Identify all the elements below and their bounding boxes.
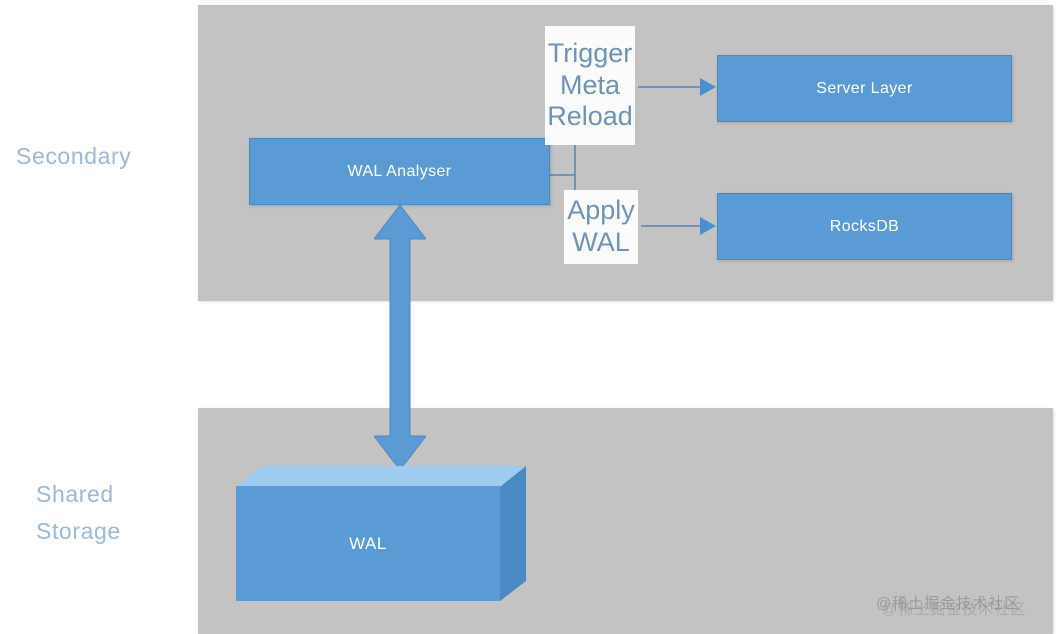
diagram-canvas: Secondary Shared Storage WAL Analyser Se… (0, 0, 1062, 634)
watermark-text-back: @稀土掘金技术社区 (882, 598, 1026, 619)
edge-line-to-rocksdb (641, 225, 701, 227)
node-wal-store[interactable]: WAL (236, 466, 526, 601)
edge-label-apply-wal: Apply WAL (564, 190, 638, 264)
watermark: @稀土掘金技术社区 @稀土掘金技术社区 (876, 592, 1020, 613)
node-wal-store-label: WAL (349, 534, 387, 554)
edge-label-trigger-meta-reload: Trigger Meta Reload (545, 26, 635, 145)
node-wal-analyser[interactable]: WAL Analyser (249, 138, 550, 205)
node-rocksdb-label: RocksDB (830, 218, 899, 236)
node-wal-analyser-label: WAL Analyser (347, 163, 451, 181)
double-arrow-analyser-to-wal (374, 205, 426, 470)
node-server-layer[interactable]: Server Layer (717, 55, 1012, 122)
zone-label-secondary: Secondary (16, 138, 191, 175)
edge-line-to-server-layer (638, 86, 701, 88)
arrow-head-to-rocksdb (700, 217, 716, 235)
zone-label-shared-storage: Shared Storage (36, 476, 201, 551)
wal-store-side-face (500, 466, 526, 601)
arrow-head-to-server-layer (700, 78, 716, 96)
node-server-layer-label: Server Layer (816, 80, 912, 98)
node-rocksdb[interactable]: RocksDB (717, 193, 1012, 260)
wal-store-front-face: WAL (236, 486, 500, 601)
wal-store-top-face (236, 466, 526, 487)
connector-analyser-stub (548, 174, 576, 176)
edge-label-apply-wal-text: Apply WAL (564, 195, 638, 258)
edge-label-trigger-meta-reload-text: Trigger Meta Reload (545, 38, 635, 133)
